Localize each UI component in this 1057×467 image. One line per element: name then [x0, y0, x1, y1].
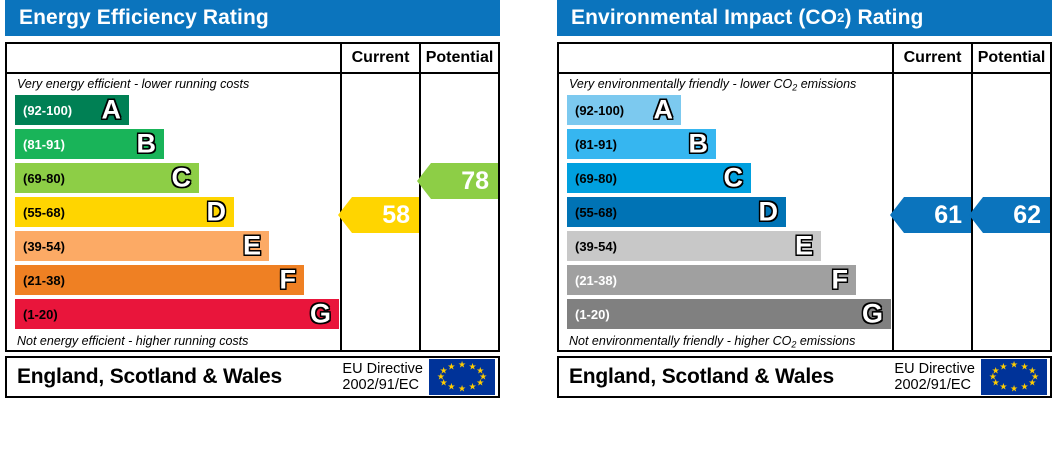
- eu-star: ★: [458, 361, 466, 370]
- environmental-impact-title-text: Environmental Impact (CO: [571, 6, 837, 30]
- band-row-f: (21-38) F: [7, 263, 340, 297]
- band-letter-f: F: [280, 267, 297, 294]
- env-band-bar-f: (21-38) F: [567, 265, 856, 295]
- eu-star: ★: [999, 363, 1007, 372]
- environmental-impact-table: Current Potential Very environmentally f…: [557, 42, 1052, 352]
- env-band-range-e: (39-54): [567, 239, 617, 254]
- eu-star: ★: [1010, 361, 1018, 370]
- band-row-g: (1-20) G: [7, 297, 340, 331]
- energy-current-indicator: 58: [338, 197, 419, 233]
- eu-star: ★: [1028, 378, 1036, 387]
- energy-directive-line1: EU Directive: [342, 361, 423, 377]
- header-spacer-2: [559, 44, 892, 72]
- band-row-b: (81-91) B: [7, 127, 340, 161]
- environmental-current-indicator: 61: [890, 197, 971, 233]
- band-range-f: (21-38): [15, 273, 65, 288]
- environmental-body: Very environmentally friendly - lower CO…: [559, 74, 1050, 350]
- env-bottom-note-b: emissions: [796, 334, 855, 348]
- band-range-e: (39-54): [15, 239, 65, 254]
- environmental-footer: England, Scotland & Wales EU Directive 2…: [557, 356, 1052, 398]
- band-letter-g: G: [310, 301, 331, 328]
- energy-efficiency-bars-column: Very energy efficient - lower running co…: [7, 74, 340, 350]
- env-directive-line1: EU Directive: [894, 361, 975, 377]
- eu-star: ★: [458, 384, 466, 393]
- energy-efficiency-chart: Energy Efficiency Rating Current Potenti…: [5, 0, 500, 467]
- band-bar-b: (81-91) B: [15, 129, 164, 159]
- env-band-range-f: (21-38): [567, 273, 617, 288]
- env-band-row-d: (55-68) D: [559, 195, 892, 229]
- environmental-potential-value: 62: [1013, 201, 1041, 230]
- env-band-range-d: (55-68): [567, 205, 617, 220]
- environmental-impact-title: Environmental Impact (CO2) Rating: [557, 0, 1052, 36]
- env-band-letter-d: D: [759, 199, 779, 226]
- energy-top-note: Very energy efficient - lower running co…: [7, 74, 340, 93]
- eu-star: ★: [447, 382, 455, 391]
- energy-bottom-note: Not energy efficient - higher running co…: [7, 331, 340, 350]
- environmental-bottom-note: Not environmentally friendly - higher CO…: [559, 331, 892, 350]
- environmental-bars-column: Very environmentally friendly - lower CO…: [559, 74, 892, 350]
- band-range-c: (69-80): [15, 171, 65, 186]
- env-band-bar-b: (81-91) B: [567, 129, 716, 159]
- band-row-a: (92-100) A: [7, 93, 340, 127]
- energy-efficiency-body: Very energy efficient - lower running co…: [7, 74, 498, 350]
- eu-star: ★: [1021, 382, 1029, 391]
- env-band-bar-a: (92-100) A: [567, 95, 681, 125]
- band-letter-e: E: [243, 233, 261, 260]
- env-band-bar-e: (39-54) E: [567, 231, 821, 261]
- epc-charts-page: Energy Efficiency Rating Current Potenti…: [0, 0, 1057, 467]
- header-current: Current: [340, 44, 419, 72]
- env-band-row-c: (69-80) C: [559, 161, 892, 195]
- band-bar-d: (55-68) D: [15, 197, 234, 227]
- energy-efficiency-table: Current Potential Very energy efficient …: [5, 42, 500, 352]
- energy-current-value: 58: [382, 201, 410, 230]
- energy-current-column: 58: [340, 74, 419, 350]
- band-letter-a: A: [102, 97, 122, 124]
- environmental-band-rows: (92-100) A (81-91) B (69: [559, 93, 892, 331]
- band-range-d: (55-68): [15, 205, 65, 220]
- env-band-letter-b: B: [689, 131, 709, 158]
- env-band-range-b: (81-91): [567, 137, 617, 152]
- environmental-footer-directive: EU Directive 2002/91/EC: [894, 361, 981, 393]
- env-band-range-c: (69-80): [567, 171, 617, 186]
- env-band-row-g: (1-20) G: [559, 297, 892, 331]
- eu-star: ★: [447, 363, 455, 372]
- energy-footer: England, Scotland & Wales EU Directive 2…: [5, 356, 500, 398]
- eu-flag-icon-2: ★★★★★★★★★★★★: [981, 359, 1047, 395]
- env-band-letter-f: F: [832, 267, 849, 294]
- env-band-bar-c: (69-80) C: [567, 163, 751, 193]
- environmental-footer-region: England, Scotland & Wales: [559, 365, 894, 389]
- env-band-range-g: (1-20): [567, 307, 610, 322]
- band-bar-a: (92-100) A: [15, 95, 129, 125]
- energy-efficiency-header-row: Current Potential: [7, 44, 498, 74]
- energy-potential-indicator: 78: [417, 163, 498, 199]
- env-top-note-b: emissions: [797, 77, 856, 91]
- band-bar-f: (21-38) F: [15, 265, 304, 295]
- band-bar-c: (69-80) C: [15, 163, 199, 193]
- energy-footer-region: England, Scotland & Wales: [7, 365, 342, 389]
- header-potential-2: Potential: [971, 44, 1050, 72]
- env-band-row-a: (92-100) A: [559, 93, 892, 127]
- energy-directive-line2: 2002/91/EC: [342, 377, 423, 393]
- band-bar-e: (39-54) E: [15, 231, 269, 261]
- environmental-header-row: Current Potential: [559, 44, 1050, 74]
- energy-footer-directive: EU Directive 2002/91/EC: [342, 361, 429, 393]
- env-band-bar-g: (1-20) G: [567, 299, 891, 329]
- environmental-current-value: 61: [934, 201, 962, 230]
- env-band-row-e: (39-54) E: [559, 229, 892, 263]
- band-row-e: (39-54) E: [7, 229, 340, 263]
- environmental-potential-column: 62: [971, 74, 1050, 350]
- env-band-row-f: (21-38) F: [559, 263, 892, 297]
- environmental-impact-title-suffix: ) Rating: [844, 6, 923, 30]
- env-band-row-b: (81-91) B: [559, 127, 892, 161]
- environmental-impact-chart: Environmental Impact (CO2) Rating Curren…: [557, 0, 1052, 467]
- band-row-d: (55-68) D: [7, 195, 340, 229]
- eu-star: ★: [1010, 384, 1018, 393]
- eu-star: ★: [999, 382, 1007, 391]
- env-band-letter-c: C: [724, 165, 744, 192]
- eu-star: ★: [476, 378, 484, 387]
- eu-flag-icon: ★★★★★★★★★★★★: [429, 359, 495, 395]
- band-letter-b: B: [137, 131, 157, 158]
- energy-potential-value: 78: [461, 167, 489, 196]
- energy-efficiency-title: Energy Efficiency Rating: [5, 0, 500, 36]
- env-band-bar-d: (55-68) D: [567, 197, 786, 227]
- energy-efficiency-title-text: Energy Efficiency Rating: [19, 6, 269, 30]
- energy-band-rows: (92-100) A (81-91) B (69: [7, 93, 340, 331]
- band-letter-c: C: [172, 165, 192, 192]
- env-band-range-a: (92-100): [567, 103, 624, 118]
- environmental-top-note: Very environmentally friendly - lower CO…: [559, 74, 892, 93]
- env-directive-line2: 2002/91/EC: [894, 377, 975, 393]
- band-range-g: (1-20): [15, 307, 58, 322]
- env-band-letter-g: G: [862, 301, 883, 328]
- env-band-letter-e: E: [795, 233, 813, 260]
- band-letter-d: D: [207, 199, 227, 226]
- band-range-b: (81-91): [15, 137, 65, 152]
- header-current-2: Current: [892, 44, 971, 72]
- env-band-letter-a: A: [654, 97, 674, 124]
- env-bottom-note-a: Not environmentally friendly - higher CO: [569, 334, 791, 348]
- header-potential: Potential: [419, 44, 498, 72]
- environmental-current-column: 61: [892, 74, 971, 350]
- band-range-a: (92-100): [15, 103, 72, 118]
- environmental-potential-indicator: 62: [969, 197, 1050, 233]
- band-row-c: (69-80) C: [7, 161, 340, 195]
- band-bar-g: (1-20) G: [15, 299, 339, 329]
- eu-star: ★: [469, 382, 477, 391]
- energy-potential-column: 78: [419, 74, 498, 350]
- header-spacer: [7, 44, 340, 72]
- env-top-note-a: Very environmentally friendly - lower CO: [569, 77, 792, 91]
